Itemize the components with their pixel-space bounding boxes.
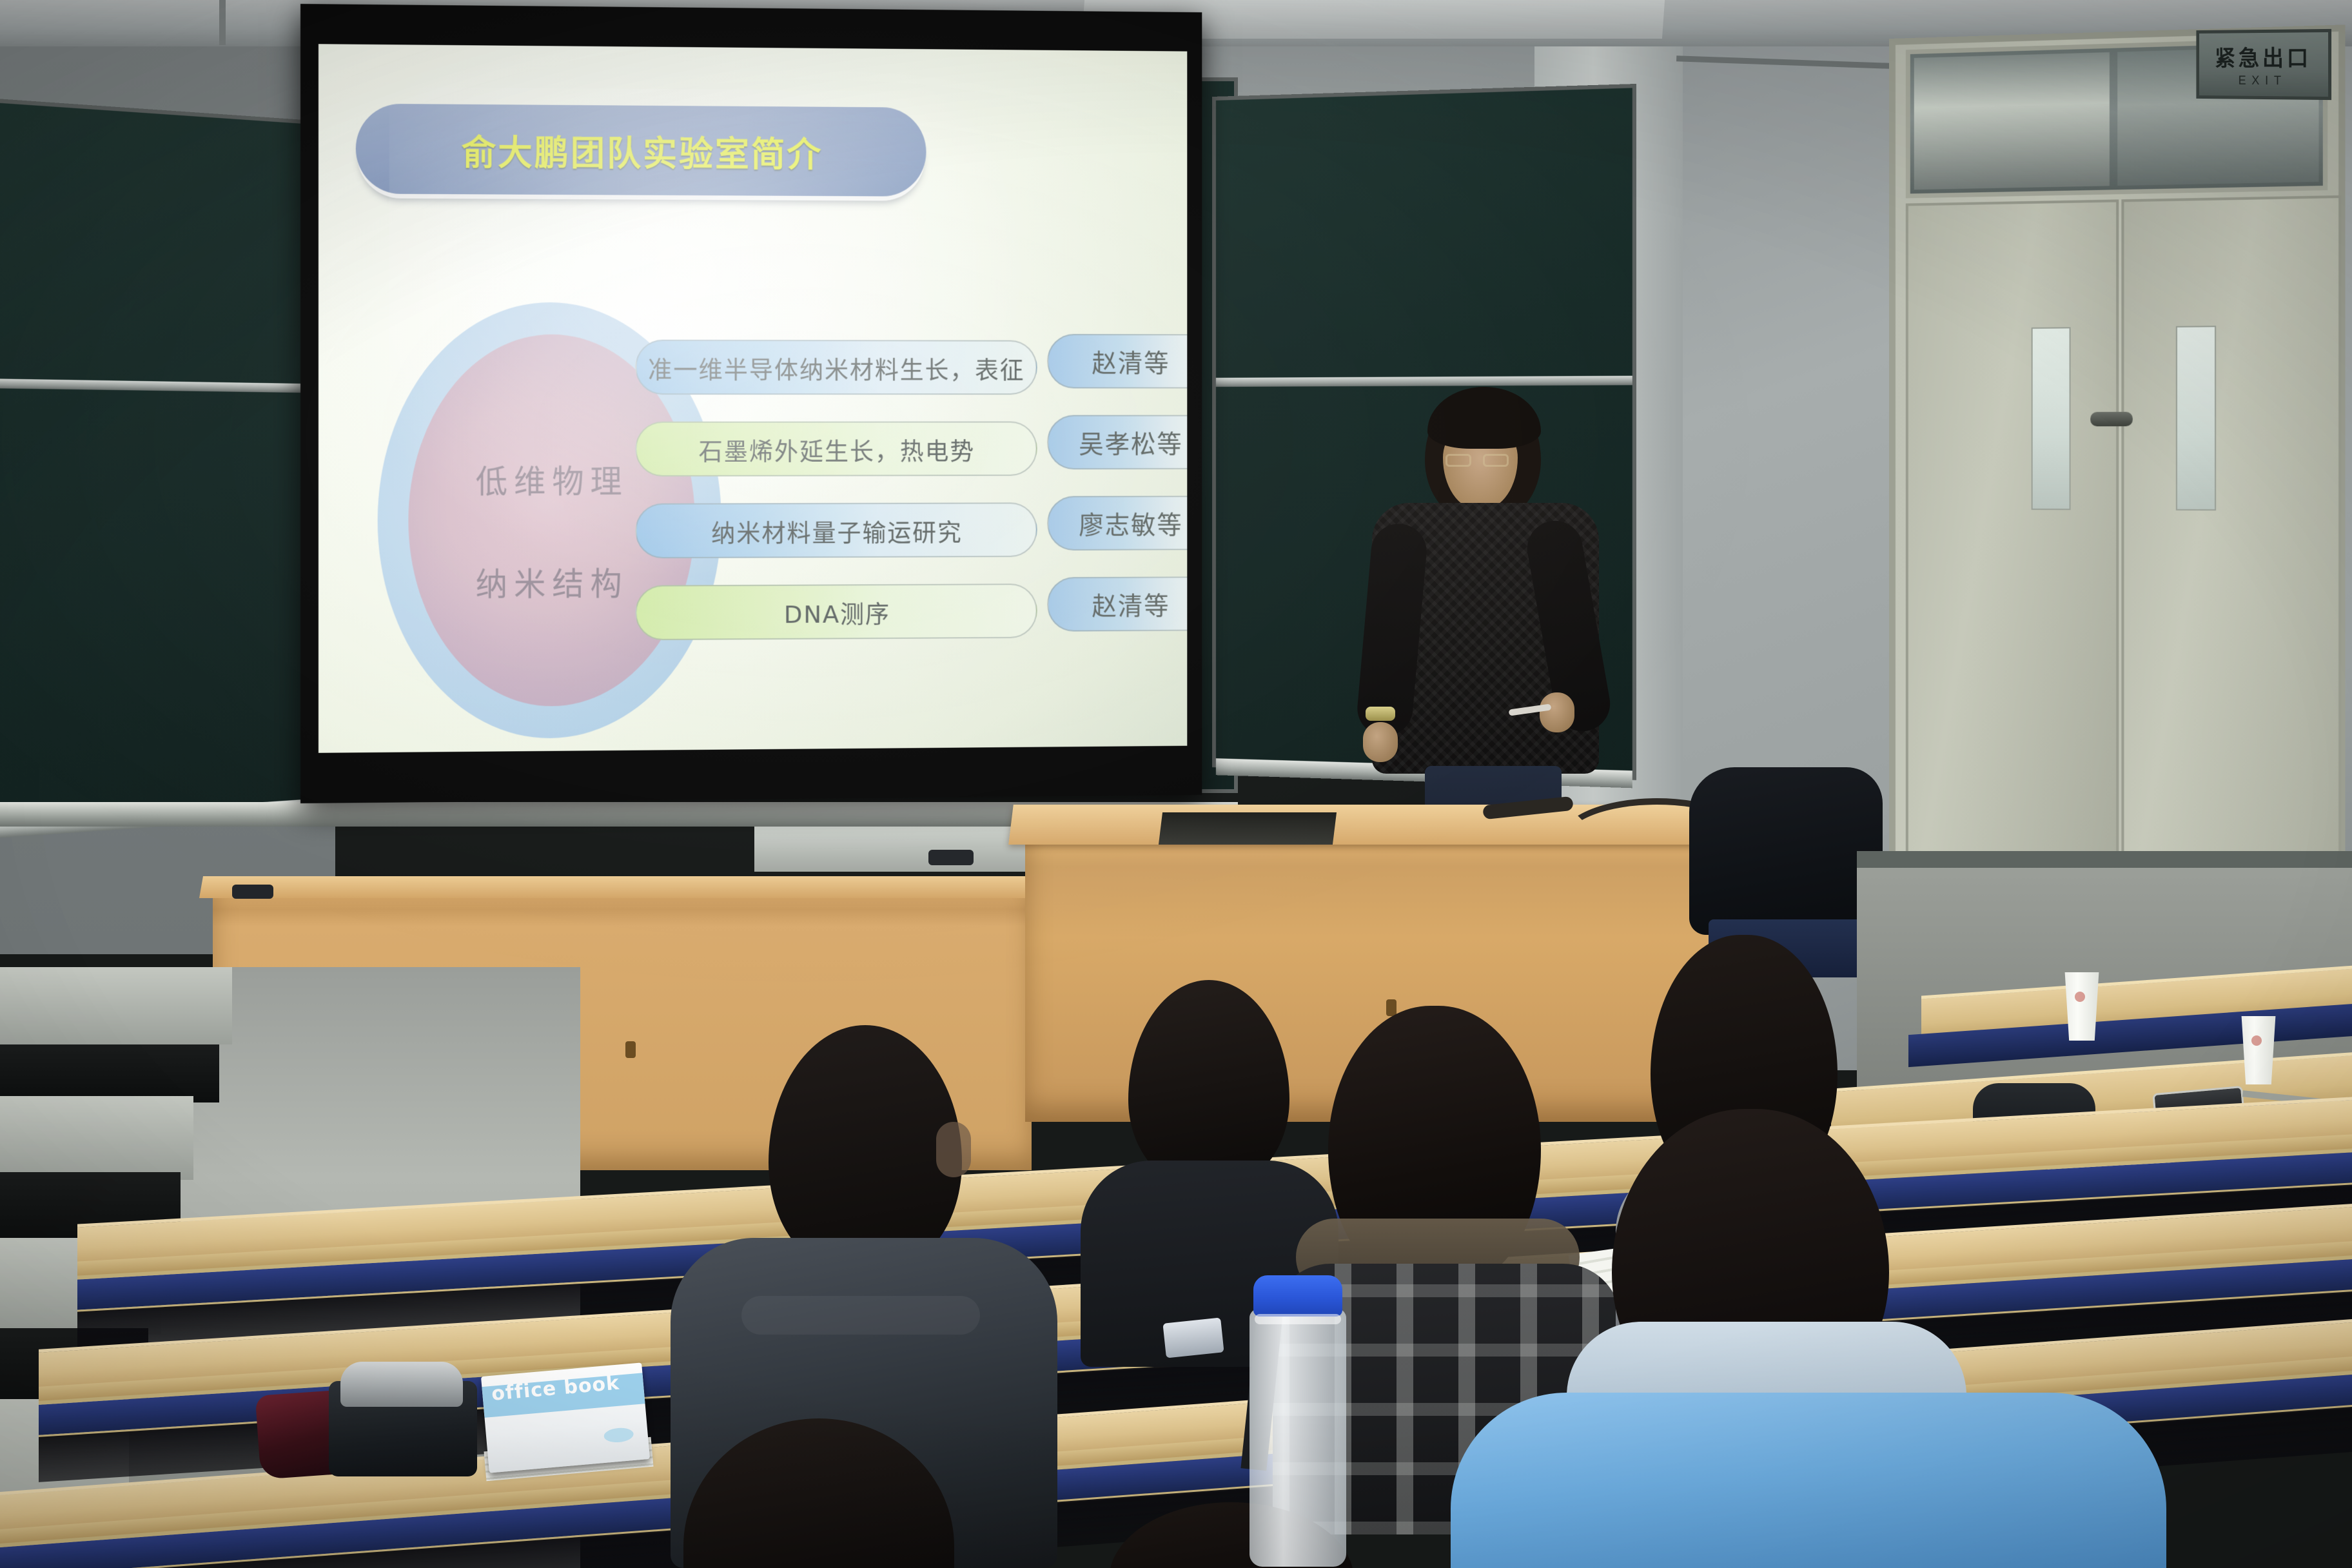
transom-pane-left (1914, 52, 2110, 190)
exit-sign-english: EXIT (2239, 74, 2287, 88)
baseboard-right (1857, 851, 2352, 868)
exit-sign: 紧急出口 EXIT (2196, 29, 2331, 100)
notebook-dot (603, 1427, 634, 1444)
ceiling-hook (219, 0, 226, 45)
presenter-hand-left (1363, 722, 1398, 762)
chalk-rail (1216, 376, 1632, 387)
slide-people-pill-2: 吴孝松等 (1047, 415, 1187, 470)
projection-screen: 俞大鹏团队实验室简介 低维物理 纳米结构 准一维半导体纳米材料生长，表征 石墨烯… (300, 4, 1202, 803)
door-leaf-right[interactable] (2121, 195, 2341, 892)
slide-topic-pill-1: 准一维半导体纳米材料生长，表征 (635, 340, 1037, 395)
presenter-hair (1427, 387, 1541, 449)
presenter-glasses-right (1483, 454, 1509, 467)
slide-topic-pill-4: DNA测序 (635, 583, 1037, 640)
step-riser-1 (0, 1044, 219, 1102)
slide-topic-pill-2: 石墨烯外延生长，热电势 (635, 422, 1037, 477)
student-blue-hoodie (1406, 1109, 2166, 1568)
presenter-wristwatch (1366, 707, 1395, 721)
cup-logo (2075, 992, 2085, 1002)
student-head (769, 1025, 962, 1270)
lecture-hall-scene: 俞大鹏团队实验室简介 低维物理 纳米结构 准一维半导体纳米材料生长，表征 石墨烯… (0, 0, 2352, 1568)
desk-object-left[interactable] (232, 885, 273, 899)
silver-pouch[interactable] (340, 1362, 463, 1407)
exit-sign-chinese: 紧急出口 (2215, 40, 2311, 72)
door-vision-panel (2032, 327, 2071, 510)
black-jacket (1689, 767, 1883, 935)
presenter-glasses-left (1445, 454, 1471, 467)
bottle-cap[interactable] (1253, 1275, 1342, 1317)
jacket-collar (741, 1296, 980, 1335)
office-book-notebook[interactable]: office book (481, 1362, 650, 1473)
chalkboard-left (0, 98, 342, 831)
student-head (683, 1418, 954, 1568)
slide-people-pill-3: 廖志敏等 (1047, 496, 1187, 551)
bottle-ring (1255, 1314, 1341, 1324)
student-ear (936, 1122, 971, 1177)
slide-title-bar: 俞大鹏团队实验室简介 (356, 104, 926, 197)
front-desk-top (199, 876, 1045, 898)
slide-title: 俞大鹏团队实验室简介 (462, 124, 823, 177)
floor-step-2 (0, 1096, 193, 1180)
chalk-rail (0, 378, 338, 393)
presentation-slide: 俞大鹏团队实验室简介 低维物理 纳米结构 准一维半导体纳米材料生长，表征 石墨烯… (318, 44, 1187, 753)
slide-topic-pill-3: 纳米材料量子输运研究 (635, 502, 1037, 558)
presenter-hand-right (1540, 692, 1574, 732)
small-device[interactable] (1162, 1317, 1224, 1358)
door-leaf-left[interactable] (1906, 199, 2119, 885)
slide-people-pill-1: 赵清等 (1047, 334, 1187, 389)
double-door[interactable] (1889, 24, 2346, 890)
blue-hoodie (1451, 1393, 2166, 1568)
door-vision-panel (2176, 326, 2216, 511)
student-front-row (645, 1418, 980, 1568)
desk-object-center[interactable] (928, 850, 974, 865)
desk-knob[interactable] (625, 1041, 636, 1058)
cup-logo (2251, 1035, 2262, 1046)
floor-step-1 (0, 967, 232, 1044)
door-handle[interactable] (2090, 412, 2133, 427)
presenter (1347, 387, 1618, 864)
desk-belongings: office book (258, 1347, 658, 1476)
slide-people-pill-4: 赵清等 (1047, 576, 1187, 632)
podium-equipment-well (1159, 812, 1337, 845)
water-bottle[interactable] (1249, 1309, 1346, 1567)
